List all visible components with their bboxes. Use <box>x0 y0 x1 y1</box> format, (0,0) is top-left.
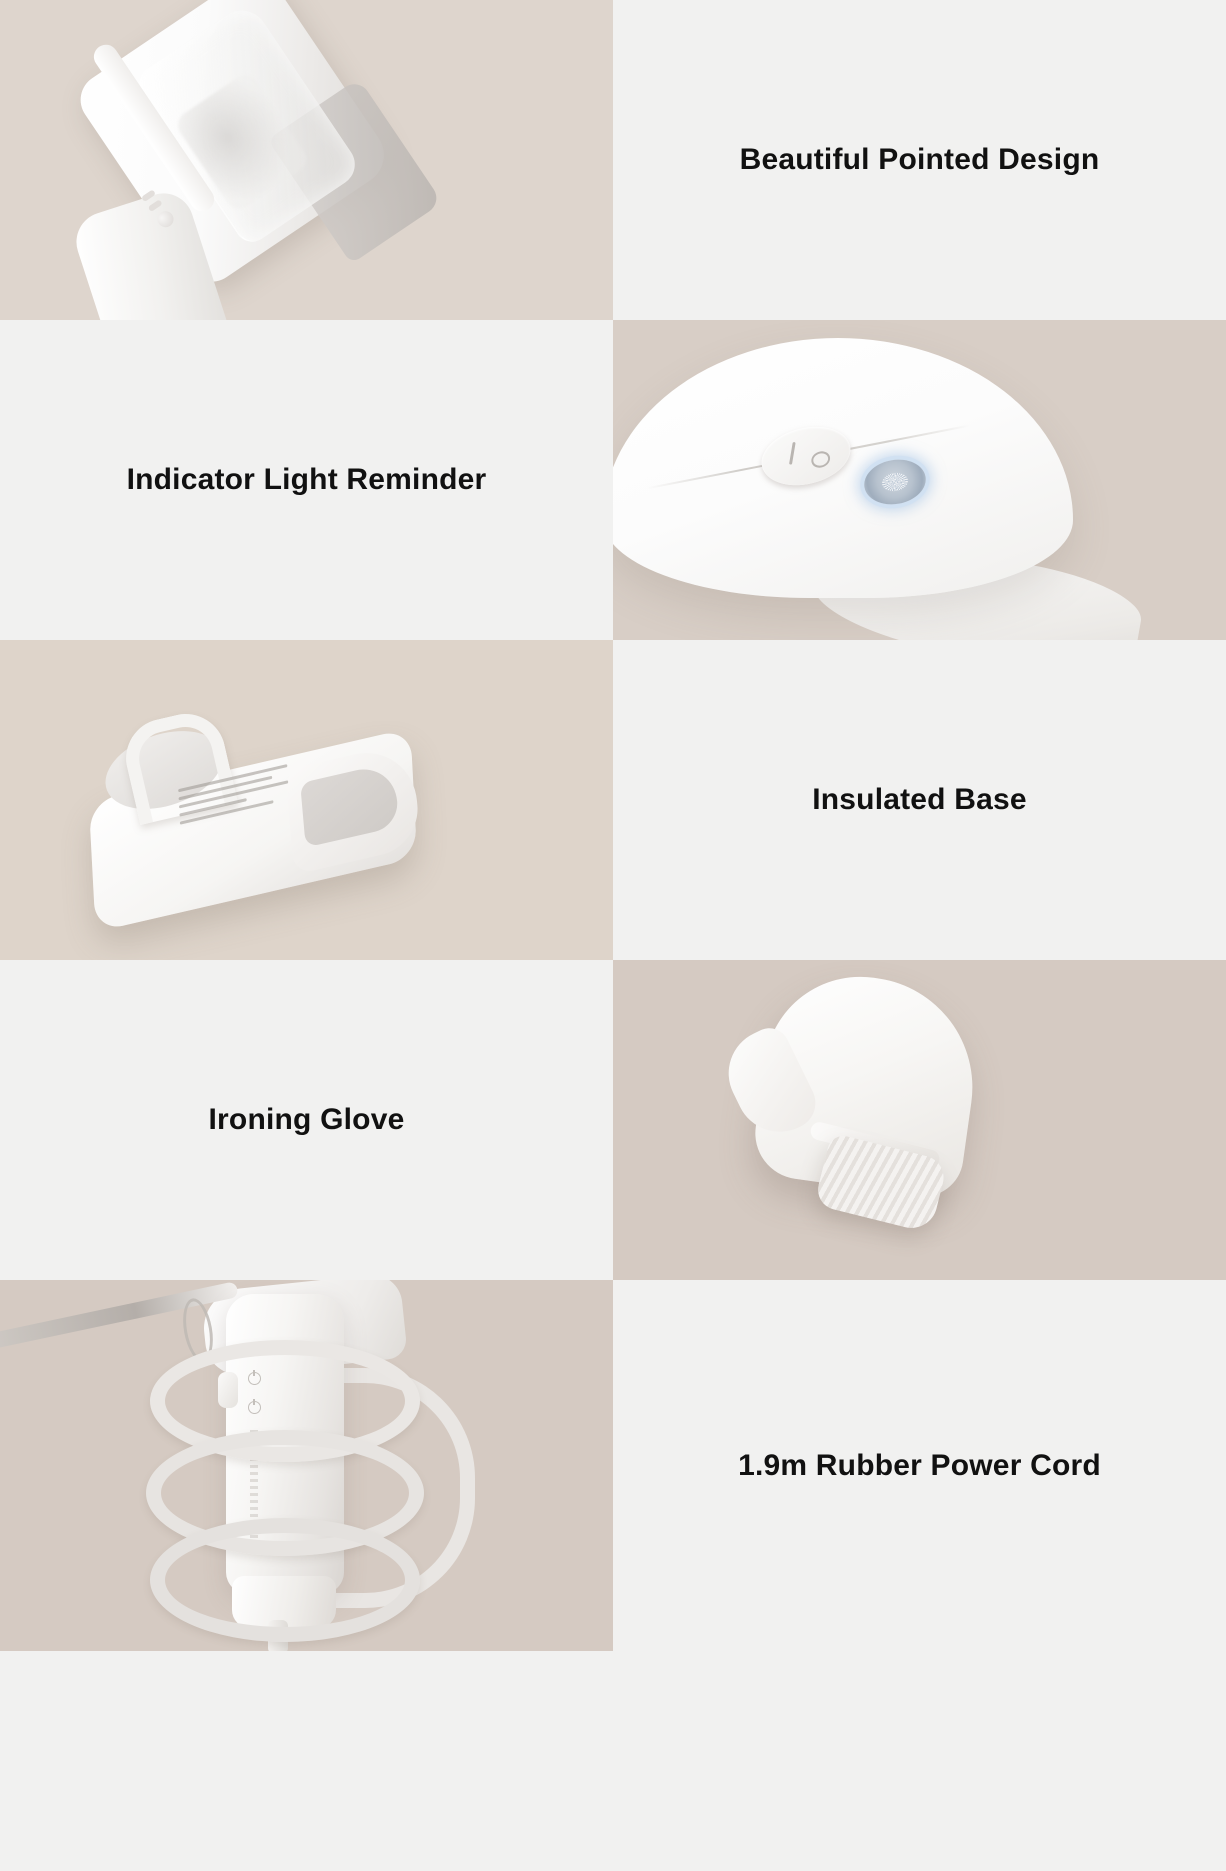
feature-image-ironing-glove <box>613 960 1226 1280</box>
power-one-mark-icon <box>789 442 796 465</box>
feature-text-ironing-glove: Ironing Glove <box>0 960 613 1280</box>
feature-image-insulated-base <box>0 640 613 960</box>
feature-caption: Indicator Light Reminder <box>127 463 487 497</box>
feature-text-indicator-light: Indicator Light Reminder <box>0 320 613 640</box>
feature-image-pointed-design <box>0 0 613 320</box>
power-cord-coil <box>150 1518 420 1642</box>
product-feature-sheet: Beautiful Pointed Design Indicator Light… <box>0 0 1226 1871</box>
feature-caption: 1.9m Rubber Power Cord <box>738 1449 1101 1483</box>
feature-row-ironing-glove: Ironing Glove <box>0 960 1226 1280</box>
feature-row-power-cord: 1.9m Rubber Power Cord <box>0 1280 1226 1651</box>
feature-caption: Ironing Glove <box>209 1103 405 1137</box>
feature-text-power-cord: 1.9m Rubber Power Cord <box>613 1280 1226 1651</box>
power-zero-mark-icon <box>811 450 831 469</box>
control-bar-icon <box>148 199 163 212</box>
feature-image-power-cord <box>0 1280 613 1651</box>
steamer-top-shell <box>613 338 1073 598</box>
feature-row-pointed-design: Beautiful Pointed Design <box>0 0 1226 320</box>
feature-image-indicator-light <box>613 320 1226 640</box>
feature-text-pointed-design: Beautiful Pointed Design <box>613 0 1226 320</box>
control-bar-icon <box>141 189 156 202</box>
feature-row-insulated-base: Insulated Base <box>0 640 1226 960</box>
feature-caption: Beautiful Pointed Design <box>740 143 1100 177</box>
feature-text-insulated-base: Insulated Base <box>613 640 1226 960</box>
feature-row-indicator-light: Indicator Light Reminder <box>0 320 1226 640</box>
steamer-head-illustration <box>0 0 613 320</box>
feature-caption: Insulated Base <box>812 783 1027 817</box>
